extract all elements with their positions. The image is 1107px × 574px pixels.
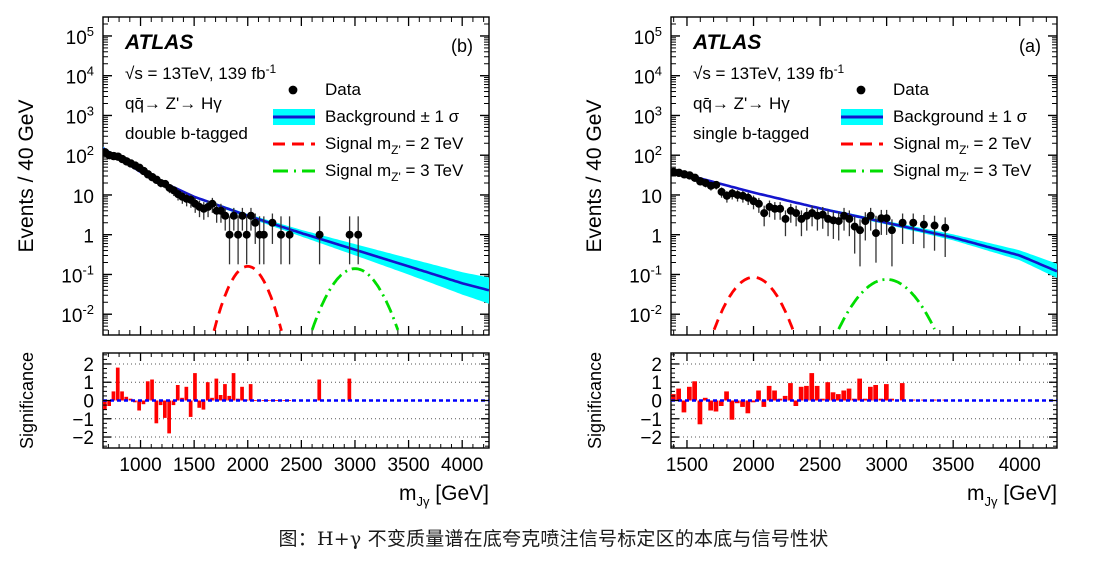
x-axis-title: mJγ [GeV] (967, 482, 1057, 509)
y-tick-labels: 10510410310210110-110-2 (629, 24, 662, 327)
plot-double-b-tagged: 10510410310210110-110-2Events / 40 GeVAT… (0, 0, 520, 520)
legend-item: Background ± 1 σ (841, 107, 1028, 126)
legend-label: Background ± 1 σ (893, 107, 1028, 126)
data-point (845, 215, 853, 223)
y-tick-label: 104 (66, 64, 94, 89)
atlas-label: ATLAS (692, 31, 761, 54)
significance-bar (240, 387, 244, 401)
significance-bar (676, 389, 681, 401)
data-point (243, 231, 251, 239)
legend-label: Data (893, 80, 929, 99)
y-tick-label: 10 (73, 187, 94, 208)
data-point (931, 222, 939, 230)
x-axis-title: mJγ [GeV] (399, 482, 489, 509)
significance-bar (687, 387, 692, 401)
significance-bar (857, 379, 862, 401)
x-tick-label: 4000 (441, 455, 483, 476)
panel-tag: (a) (1019, 36, 1041, 56)
significance-bar (202, 401, 206, 410)
y-tick-labels: 10510410310210110-110-2 (61, 24, 94, 327)
data-point (856, 226, 864, 234)
y-tick-label: 103 (634, 103, 662, 128)
significance-bar (142, 401, 146, 405)
data-point (712, 181, 720, 189)
data-point (899, 219, 907, 227)
data-point (268, 219, 276, 227)
significance-bar (219, 395, 223, 401)
x-tick-label: 2000 (732, 455, 774, 476)
y-axis-title: Events / 40 GeV (15, 100, 38, 253)
significance-y-tick-label: −2 (640, 428, 662, 449)
significance-bar (900, 383, 905, 400)
data-point (776, 205, 784, 213)
significance-bar (708, 401, 713, 411)
data-point (760, 209, 768, 217)
significance-bar (112, 391, 116, 400)
significance-bar (116, 368, 120, 401)
significance-bar (176, 385, 180, 401)
y-tick-label: 10-1 (61, 262, 94, 287)
significance-bar (884, 384, 889, 400)
x-tick-label: 1000 (119, 455, 161, 476)
significance-bar (847, 389, 852, 401)
data-point (230, 212, 238, 220)
data-point (909, 219, 917, 227)
x-tick-label: 1500 (173, 455, 215, 476)
significance-bar (223, 384, 227, 400)
significance-bar (682, 401, 687, 413)
significance-bar (698, 401, 703, 425)
significance-bar (348, 379, 352, 401)
significance-bar (137, 401, 141, 411)
data-point (221, 212, 229, 220)
y-tick-label: 105 (66, 24, 94, 49)
data-point (260, 231, 268, 239)
x-tick-labels: 1000150020002500300035004000 (119, 455, 483, 476)
data-point (781, 215, 789, 223)
energy-luminosity-label: √s = 13TeV, 139 fb-1 (125, 62, 277, 83)
x-tick-label: 2500 (799, 455, 841, 476)
atlas-label: ATLAS (124, 31, 193, 54)
significance-bar (120, 391, 124, 400)
legend-label: Data (325, 80, 361, 99)
significance-bar (189, 401, 193, 417)
significance-bar (150, 380, 154, 401)
figure-caption: 图：H+γ 不变质量谱在底夸克喷注信号标定区的本底与信号性状 (0, 524, 1107, 551)
y-tick-label: 1 (651, 227, 662, 248)
data-point (354, 231, 362, 239)
significance-bar (232, 373, 236, 400)
significance-bar (249, 384, 253, 400)
significance-bar (185, 387, 189, 401)
plot-single-b-tagged: 10510410310210110-110-2Events / 40 GeVAT… (568, 0, 1088, 520)
main-plot-area: 10510410310210110-110-2Events / 40 GeVAT… (15, 17, 489, 335)
significance-bar (767, 386, 772, 401)
significance-bar (799, 387, 804, 401)
energy-luminosity-label: √s = 13TeV, 139 fb-1 (693, 62, 845, 83)
y-tick-label: 103 (66, 103, 94, 128)
legend-marker-data (289, 86, 298, 95)
x-tick-labels: 150020002500300035004000 (666, 455, 1041, 476)
y-tick-label: 10-2 (61, 302, 94, 327)
significance-bar (825, 382, 830, 400)
significance-bar (815, 386, 820, 401)
data-point (226, 231, 234, 239)
data-point (872, 229, 880, 237)
x-tick-label: 1500 (666, 455, 708, 476)
y-tick-label: 105 (634, 24, 662, 49)
significance-bar (206, 382, 210, 400)
panel-single-b-tagged: 10510410310210110-110-2Events / 40 GeVAT… (568, 0, 1088, 520)
significance-bar (167, 401, 171, 434)
figure-root: 10510410310210110-110-2Events / 40 GeVAT… (0, 0, 1107, 574)
x-tick-label: 4000 (999, 455, 1041, 476)
x-tick-label: 3500 (387, 455, 429, 476)
process-label: qq̄→ Z'→ Hγ (693, 94, 790, 113)
x-tick-label: 2500 (280, 455, 322, 476)
significance-bar (724, 391, 729, 400)
y-tick-label: 10-2 (629, 302, 662, 327)
significance-bar (831, 392, 836, 400)
y-tick-label: 10-1 (629, 262, 662, 287)
data-point (208, 200, 216, 208)
significance-y-axis-title: Significance (585, 352, 605, 449)
y-tick-label: 102 (66, 143, 94, 168)
y-tick-label: 1 (83, 227, 94, 248)
panel-right-canvas: 10510410310210110-110-2Events / 40 GeVAT… (568, 0, 1088, 520)
legend-label: Background ± 1 σ (325, 107, 460, 126)
data-point (247, 212, 255, 220)
significance-bar (788, 383, 793, 400)
y-tick-label: 102 (634, 143, 662, 168)
main-plot-area: 10510410310210110-110-2Events / 40 GeVAT… (583, 17, 1057, 335)
x-tick-label: 3500 (932, 455, 974, 476)
y-tick-label: 10 (641, 187, 662, 208)
significance-bar (215, 379, 219, 401)
data-point (286, 231, 294, 239)
data-point (920, 221, 928, 229)
significance-y-axis-title: Significance (17, 352, 37, 449)
panel-double-b-tagged: 10510410310210110-110-2Events / 40 GeVAT… (0, 0, 520, 520)
data-point (883, 214, 891, 222)
significance-y-tick-label: −2 (72, 428, 94, 449)
significance-bar (873, 385, 878, 401)
data-point (755, 200, 763, 208)
data-point (346, 231, 354, 239)
significance-bar (317, 380, 321, 401)
significance-bar (146, 381, 150, 400)
significance-bar (714, 401, 719, 412)
legend-marker-data (857, 86, 866, 95)
significance-bar (692, 381, 697, 400)
panel-tag: (b) (451, 36, 473, 56)
significance-bar (841, 391, 846, 401)
y-tick-label: 104 (634, 64, 662, 89)
data-point (238, 212, 246, 220)
data-point (277, 231, 285, 239)
legend-item: Background ± 1 σ (273, 107, 460, 126)
significance-bar (193, 373, 197, 400)
significance-plot-area: 210−1−2Significance150020002500300035004… (585, 352, 1057, 509)
data-point (234, 231, 242, 239)
y-axis-title: Events / 40 GeV (583, 100, 606, 253)
significance-bar (163, 401, 167, 418)
significance-bar (275, 400, 279, 401)
significance-bar (155, 401, 159, 424)
data-point (316, 231, 324, 239)
data-point (888, 226, 896, 234)
significance-bar (756, 391, 761, 401)
significance-bar (730, 401, 735, 420)
x-tick-label: 3000 (334, 455, 376, 476)
data-point (251, 219, 259, 227)
process-label: qq̄→ Z'→ Hγ (125, 94, 222, 113)
category-label: double b-tagged (125, 124, 248, 143)
significance-bar (804, 386, 809, 401)
significance-plot-area: 210−1−2Significance100015002000250030003… (17, 352, 489, 509)
data-point (941, 224, 949, 232)
x-tick-label: 3000 (865, 455, 907, 476)
significance-bar (772, 391, 777, 401)
significance-bar (868, 387, 873, 401)
data-point (867, 212, 875, 220)
significance-bar (746, 401, 751, 414)
panel-left-canvas: 10510410310210110-110-2Events / 40 GeVAT… (0, 0, 520, 520)
x-tick-label: 2000 (227, 455, 269, 476)
significance-bar (809, 373, 814, 400)
category-label: single b-tagged (693, 124, 809, 143)
